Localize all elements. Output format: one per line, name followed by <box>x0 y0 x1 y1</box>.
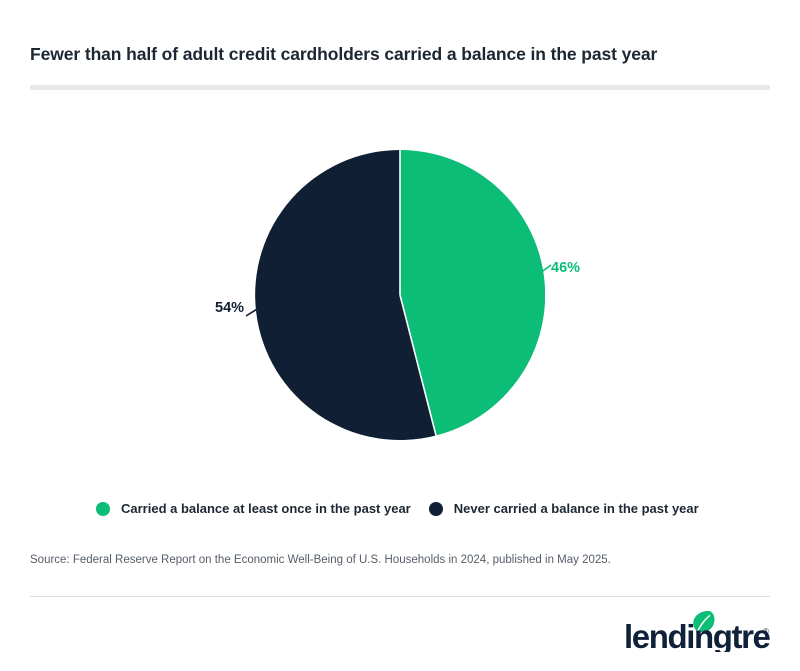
logo-wordmark: lendingtree <box>624 618 770 652</box>
page-title: Fewer than half of adult credit cardhold… <box>30 44 760 66</box>
data-label-never-carried: 54% <box>215 300 244 316</box>
legend-dot-green-icon <box>96 502 110 516</box>
footer-divider <box>30 596 770 597</box>
source-note: Source: Federal Reserve Report on the Ec… <box>30 554 611 566</box>
leader-line-navy <box>243 302 265 320</box>
legend-item-never-carried[interactable]: Never carried a balance in the past year <box>429 501 699 516</box>
legend-dot-navy-icon <box>429 502 443 516</box>
logo-trademark: ® <box>763 627 769 636</box>
pie-chart-svg <box>255 150 545 440</box>
title-divider <box>30 85 770 90</box>
legend-label-never-carried: Never carried a balance in the past year <box>454 501 699 516</box>
legend-label-carried-balance: Carried a balance at least once in the p… <box>121 501 411 516</box>
lendingtree-logo[interactable]: lendingtree ® <box>624 612 770 652</box>
lendingtree-logo-svg: lendingtree ® <box>624 610 770 652</box>
legend-item-carried-balance[interactable]: Carried a balance at least once in the p… <box>96 501 411 516</box>
pie-chart <box>255 150 545 440</box>
data-label-carried-balance: 46% <box>551 260 580 276</box>
chart-legend: Carried a balance at least once in the p… <box>96 501 699 516</box>
chart-figure: Fewer than half of adult credit cardhold… <box>0 0 800 671</box>
